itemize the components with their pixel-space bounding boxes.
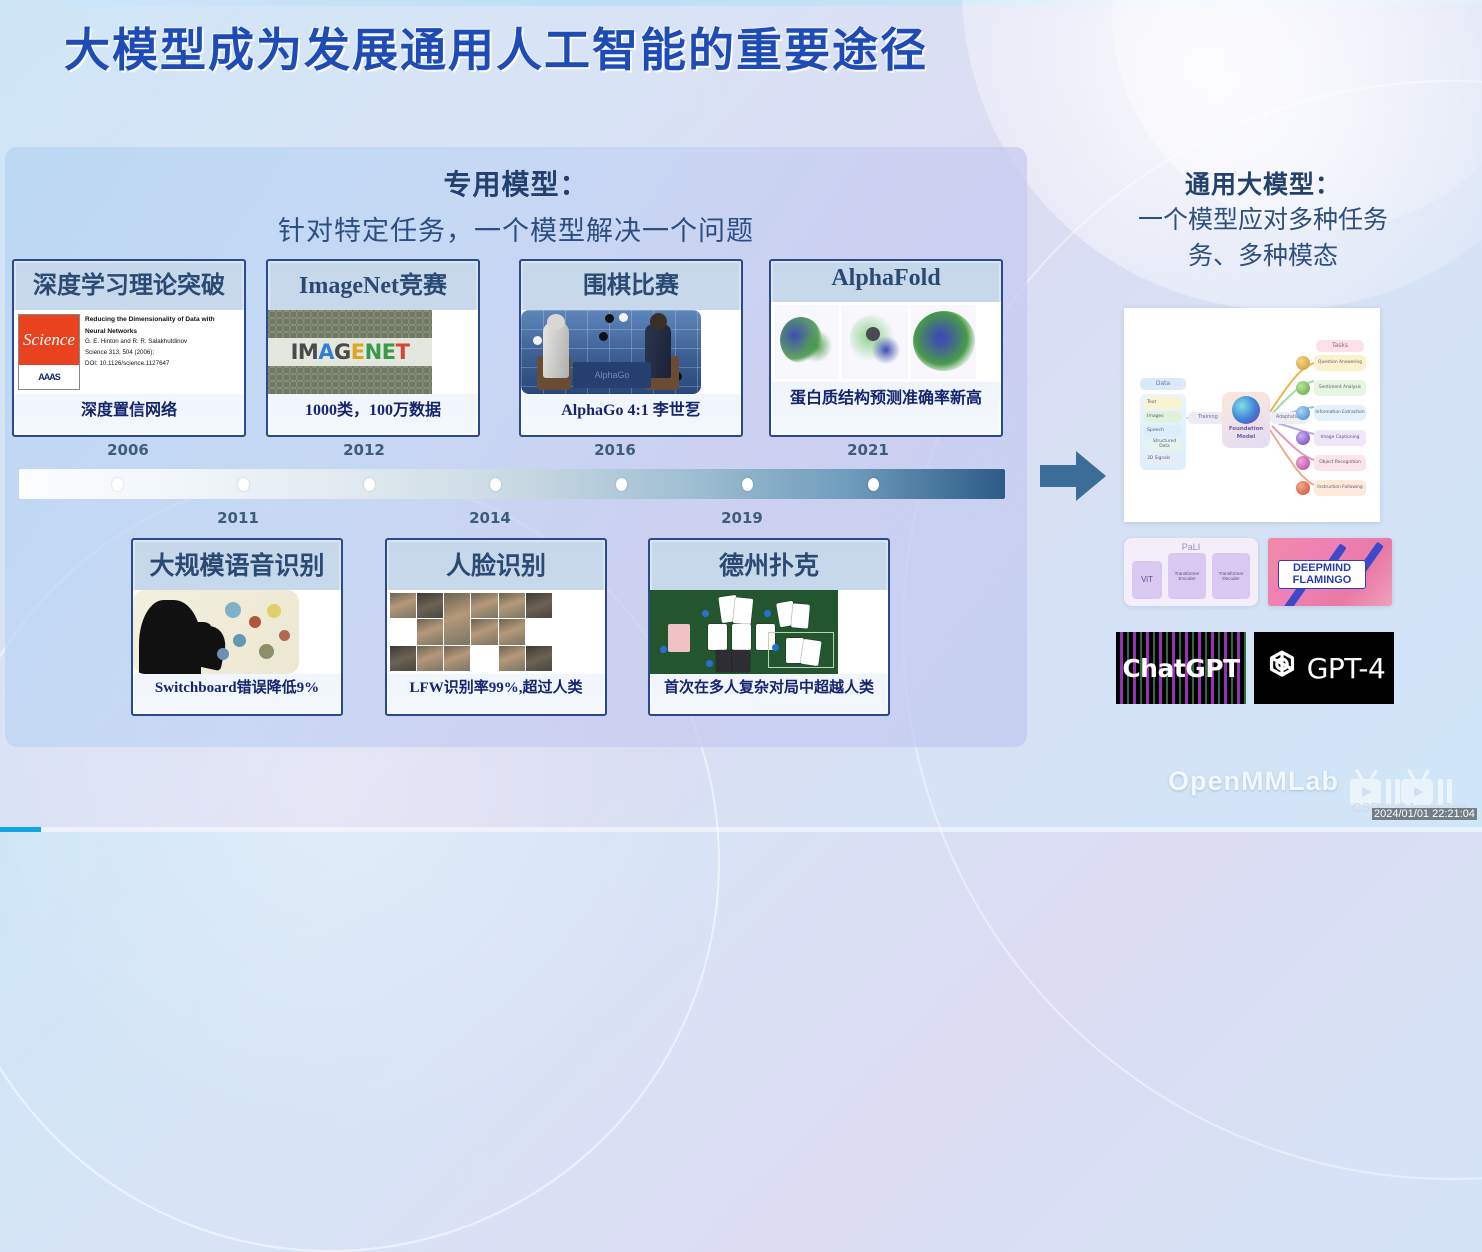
timeline-dot[interactable] [112, 478, 123, 491]
poker-chip [764, 610, 771, 617]
robot-figure [543, 322, 569, 378]
playing-card [800, 639, 821, 666]
diagram-data-label: Data [1140, 378, 1186, 390]
concept-bubble [259, 644, 274, 659]
go-stone [619, 313, 628, 322]
face-thumbnail [499, 646, 525, 671]
lfw-face-grid [387, 590, 605, 674]
diagram-task-bullet [1296, 431, 1310, 445]
diagram-task-bullet [1296, 456, 1310, 470]
science-journal-logo: Science AAAS [18, 314, 80, 390]
aaas-wordmark: AAAS [19, 365, 79, 389]
diagram-data-structured: Structured Data [1144, 439, 1182, 451]
card-caption: 深度置信网络 [14, 396, 244, 420]
diagram-model-label-1: Foundation [1222, 426, 1270, 433]
paper-title: Reducing the Dimensionality of Data with… [85, 314, 224, 337]
card-caption: LFW识别率99%,超过人类 [387, 676, 605, 697]
timeline-dot[interactable] [364, 478, 375, 491]
timeline-year-2006: 2006 [107, 441, 149, 459]
diagram-task-bullet [1296, 481, 1310, 495]
chatgpt-card[interactable]: ChatGPT [1116, 632, 1246, 704]
milestone-card-alphago[interactable]: 围棋比赛 AlphaGo AlphaGo 4:1 李世乭 [519, 259, 743, 437]
flamingo-wordmark: DEEPMIND FLAMINGO [1278, 560, 1366, 589]
flamingo-line1: DEEPMIND [1279, 563, 1365, 575]
openai-logo-icon [1263, 647, 1301, 690]
diagram-task-qa: Question Answering [1314, 355, 1366, 371]
timeline-dot[interactable] [238, 478, 249, 491]
concept-bubble [249, 616, 261, 628]
playing-card [733, 597, 754, 625]
imagenet-mosaic-logo: IMAGENET [268, 310, 478, 394]
diagram-task-info-extraction: Information Extraction [1314, 405, 1366, 421]
timeline-dot[interactable] [616, 478, 627, 491]
card-back [668, 624, 690, 652]
pali-block-vit: ViT [1132, 561, 1162, 599]
pali-model-card[interactable]: PaLI ViT Transformer Encoder Transformer… [1124, 538, 1258, 606]
card-title: ImageNet竞赛 [268, 261, 478, 306]
concept-bubble [267, 604, 281, 618]
timeline-dot[interactable] [490, 478, 501, 491]
concept-bubble [225, 602, 241, 618]
alphago-match-photo: AlphaGo [521, 310, 741, 394]
go-stone [605, 314, 614, 323]
diagram-tasks-label: Tasks [1316, 340, 1364, 352]
chatgpt-wordmark: ChatGPT [1122, 654, 1239, 683]
face-thumbnail [444, 646, 470, 671]
concept-bubble [279, 630, 290, 641]
face-thumbnail [417, 593, 443, 618]
pali-title: PaLI [1124, 542, 1258, 552]
diagram-model-label-2: Model [1222, 434, 1270, 440]
diagram-task-instruction-following: Instruction Following [1314, 480, 1366, 496]
paper-authors: G. E. Hinton and R. R. Salakhutdinov [85, 337, 224, 348]
protein-panel [911, 305, 976, 379]
playing-card [791, 603, 810, 628]
protein-panel [774, 305, 839, 379]
timeline-year-2012: 2012 [343, 441, 385, 459]
face-thumbnail-empty [526, 619, 552, 644]
diagram-data-3d: 3D Signals [1144, 453, 1182, 465]
milestone-card-speech-recognition[interactable]: 大规模语音识别 Switchboard错误降低9% [131, 538, 343, 716]
pali-block-decoder: Transformer Decoder [1212, 553, 1250, 599]
general-model-heading: 通用大模型： 一个模型应对多种任务 务、多种模态 [1108, 165, 1418, 272]
poker-chip [706, 660, 713, 667]
top-accent-band [0, 0, 1482, 6]
paper-doi: DOI: 10.1126/science.1127647 [85, 359, 224, 370]
page-title: 大模型成为发展通用人工智能的重要途径 [64, 14, 928, 80]
general-heading-line2: 一个模型应对多种任务 [1108, 205, 1418, 237]
face-thumbnail [526, 593, 552, 618]
paper-citation-block: Reducing the Dimensionality of Data with… [85, 314, 224, 390]
milestone-card-deep-learning[interactable]: 深度学习理论突破 Science AAAS Reducing the Dimen… [12, 259, 246, 437]
pali-block-encoder: Transformer Encoder [1168, 553, 1206, 599]
poker-chip [772, 644, 779, 651]
specialized-models-heading: 专用模型： 针对特定任务，一个模型解决一个问题 [5, 163, 1027, 248]
timeline-year-2021: 2021 [847, 441, 889, 459]
timeline-year-2019: 2019 [721, 509, 763, 527]
progress-bar-track[interactable] [0, 827, 1482, 832]
card-caption: Switchboard错误降低9% [133, 676, 341, 697]
concept-bubble [233, 634, 246, 647]
face-thumbnail [471, 593, 497, 618]
face-thumbnail [390, 593, 416, 618]
card-title: 围棋比赛 [521, 261, 741, 306]
card-title: 人脸识别 [387, 540, 605, 586]
face-thumbnail [526, 646, 552, 671]
general-heading-line1: 通用大模型： [1108, 165, 1418, 201]
diagram-data-text: Text [1144, 397, 1182, 409]
face-thumbnail [499, 593, 525, 618]
diagram-task-bullet [1296, 406, 1310, 420]
timeline-bar [19, 469, 1005, 499]
speech-silhouette-icon [133, 590, 341, 674]
paper-citation: Science 313, 504 (2006); [85, 348, 224, 359]
diagram-data-images: Images [1144, 411, 1182, 423]
milestone-card-imagenet[interactable]: ImageNet竞赛 IMAGENET 1000类，100万数据 [266, 259, 480, 437]
poker-chip [660, 646, 667, 653]
timeline-year-2016: 2016 [594, 441, 636, 459]
diagram-task-object-recognition: Object Recognition [1314, 455, 1366, 471]
face-thumbnail [390, 646, 416, 671]
right-arrow-icon [1040, 449, 1106, 503]
face-thumbnail [417, 646, 443, 671]
match-table: AlphaGo [573, 362, 651, 388]
flamingo-model-card[interactable]: DEEPMIND FLAMINGO [1268, 538, 1392, 606]
recording-timestamp: 2024/01/01 22:21:04 [1372, 808, 1477, 820]
face-thumbnail [499, 619, 525, 644]
timeline-year-2014: 2014 [469, 509, 511, 527]
timeline-dot[interactable] [868, 478, 879, 491]
imagenet-wordmark: IMAGENET [268, 338, 432, 367]
diagram-data-speech: Speech [1144, 425, 1182, 437]
concept-bubble [217, 648, 229, 660]
specialized-heading-line1: 专用模型： [5, 163, 1027, 203]
poker-chip [702, 610, 709, 617]
diagram-task-sentiment: Sentiment Analysis [1314, 380, 1366, 396]
openmmlab-brand: OpenMMLab [1168, 766, 1339, 797]
foundation-model-diagram[interactable]: Data Text Images Speech Structured Data … [1124, 308, 1380, 522]
diagram-task-image-captioning: Image Captioning [1314, 430, 1366, 446]
general-heading-line3: 务、多种模态 [1108, 241, 1418, 273]
card-caption: 1000类，100万数据 [268, 396, 478, 420]
timeline-year-2011: 2011 [217, 509, 259, 527]
gpt4-wordmark: GPT-4 [1307, 652, 1386, 685]
playing-card [708, 624, 727, 650]
flamingo-line2: FLAMINGO [1279, 575, 1365, 587]
milestone-card-poker[interactable]: 德州扑克 首次在多人复杂对局中超越人类 [648, 538, 890, 716]
card-title: AlphaFold [771, 261, 1001, 298]
science-paper-thumbnail: Science AAAS Reducing the Dimensionality… [14, 310, 244, 394]
face-thumbnail [444, 593, 470, 645]
poker-table-photo [650, 590, 888, 674]
timeline-dot[interactable] [742, 478, 753, 491]
go-stone [599, 332, 608, 341]
science-wordmark: Science [19, 315, 79, 365]
diagram-task-bullet [1296, 356, 1310, 370]
diagram-task-bullet [1296, 381, 1310, 395]
card-caption: 蛋白质结构预测准确率新高 [771, 384, 1001, 408]
card-title: 大规模语音识别 [133, 540, 341, 586]
progress-bar-fill [0, 827, 41, 832]
playing-card-dark [732, 650, 750, 672]
milestone-card-alphafold[interactable]: AlphaFold 蛋白质结构预测准确率新高 [769, 259, 1003, 437]
card-caption: 首次在多人复杂对局中超越人类 [650, 676, 888, 697]
card-caption: AlphaGo 4:1 李世乭 [521, 396, 741, 420]
protein-panel [842, 305, 907, 379]
specialized-heading-line2: 针对特定任务，一个模型解决一个问题 [5, 209, 1027, 248]
face-thumbnail [417, 619, 443, 644]
milestone-card-face-recognition[interactable]: 人脸识别 LFW识别率99%,超过人类 [385, 538, 607, 716]
timeline: 2006 2012 2016 2021 2011 2014 2019 [12, 437, 1012, 533]
go-stone [533, 336, 542, 345]
diagram-globe-icon [1232, 396, 1260, 424]
gpt4-card[interactable]: GPT-4 [1254, 632, 1394, 704]
face-thumbnail-empty [390, 619, 416, 644]
protein-structure-panels [771, 302, 1001, 382]
card-title: 德州扑克 [650, 540, 888, 586]
face-thumbnail [471, 619, 497, 644]
face-thumbnail-empty [471, 646, 497, 671]
playing-card [732, 624, 751, 650]
card-title: 深度学习理论突破 [14, 261, 244, 306]
